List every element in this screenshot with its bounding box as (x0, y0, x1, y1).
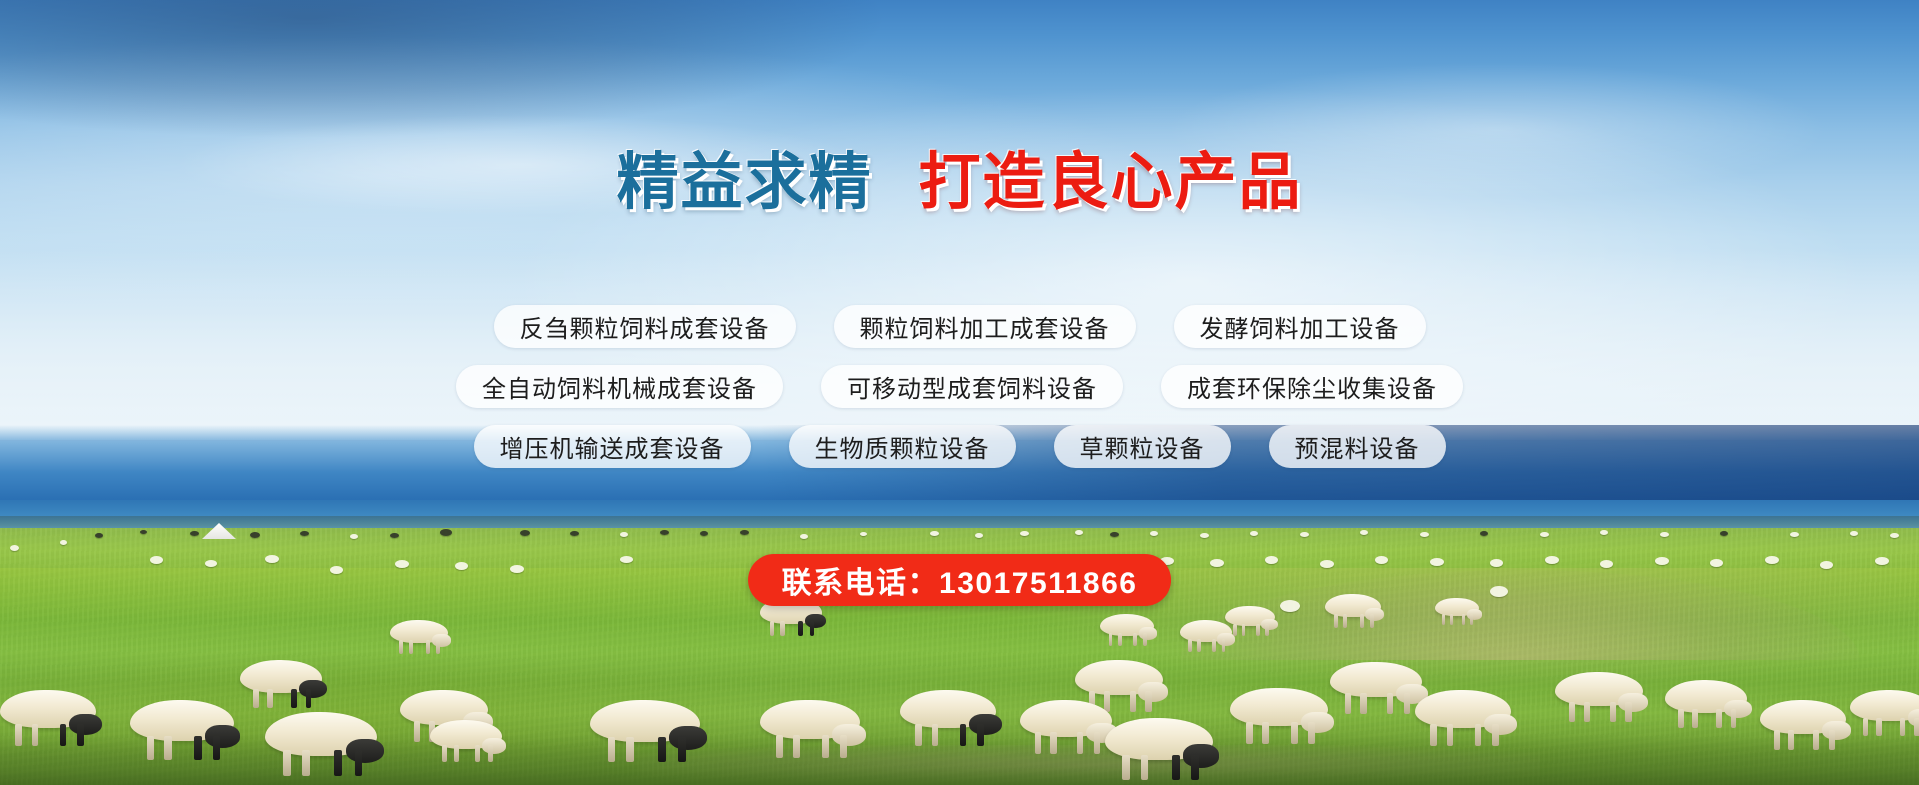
sheep (265, 712, 377, 776)
sheep-leg (1470, 614, 1473, 625)
distant-sheep (10, 545, 19, 551)
sheep (1325, 594, 1381, 628)
sheep-leg (840, 735, 847, 758)
sheep-leg (1246, 722, 1253, 744)
sheep-leg (302, 750, 310, 776)
sheep-leg (1291, 722, 1298, 744)
sheep-leg (658, 737, 666, 762)
distant-sheep (975, 533, 983, 538)
sheep-leg (1077, 732, 1083, 754)
sheep-leg (1610, 702, 1616, 722)
distant-sheep (1480, 531, 1488, 536)
sheep-leg (1447, 724, 1454, 746)
distant-sheep (1250, 531, 1258, 536)
sheep-leg (1222, 639, 1226, 652)
sheep-leg (355, 750, 363, 776)
distant-sheep (700, 531, 708, 536)
distant-sheep (570, 531, 579, 536)
sheep-leg (1212, 639, 1216, 652)
sheep-leg (1094, 732, 1100, 754)
sheep-leg (1492, 724, 1499, 746)
sheep-leg (1308, 722, 1315, 744)
sheep-leg (32, 724, 39, 746)
sheep-leg (291, 689, 297, 708)
product-pill-grass-pellet-equipment[interactable]: 草颗粒设备 (1054, 425, 1231, 468)
sheep-leg (1141, 755, 1149, 780)
sheep-leg (1360, 693, 1366, 714)
sheep-leg (436, 640, 440, 654)
distant-sheep (860, 532, 867, 536)
sheep-head (1138, 682, 1168, 702)
sheep-leg (283, 750, 291, 776)
distant-sheep (455, 562, 468, 570)
sheep-leg (1133, 633, 1137, 646)
sheep-leg (1334, 614, 1338, 628)
distant-sheep (520, 530, 530, 536)
sheep (1850, 690, 1919, 736)
distant-sheep (1540, 532, 1549, 537)
sheep-leg (608, 737, 616, 762)
distant-sheep (150, 556, 163, 564)
distant-sheep (1660, 532, 1669, 537)
product-pill-premix-equipment[interactable]: 预混料设备 (1269, 425, 1446, 468)
sheep (130, 700, 234, 760)
distant-sheep (440, 529, 452, 536)
sheep-head (69, 714, 102, 735)
product-pill-booster-conveying-equipment[interactable]: 增压机输送成套设备 (474, 425, 751, 468)
sheep-leg (1262, 722, 1269, 744)
distant-sheep (1790, 532, 1799, 537)
sheep-leg (399, 640, 403, 654)
distant-sheep (190, 531, 199, 536)
product-pill-biomass-pellet-equipment[interactable]: 生物质颗粒设备 (789, 425, 1016, 468)
sheep-leg (253, 689, 259, 708)
distant-sheep (800, 534, 808, 539)
sheep-leg (1584, 702, 1590, 722)
sheep-head (1301, 712, 1334, 733)
promotional-banner: 精益求精打造良心产品 反刍颗粒饲料成套设备 颗粒饲料加工成套设备 发酵饲料加工设… (0, 0, 1919, 785)
distant-sheep (1545, 556, 1559, 564)
sheep-leg (798, 621, 802, 636)
sheep-head (805, 614, 826, 628)
distant-sheep (1020, 531, 1029, 536)
product-row-2: 全自动饲料机械成套设备 可移动型成套饲料设备 成套环保除尘收集设备 (0, 365, 1919, 408)
sheep-head (1724, 700, 1752, 718)
sheep-leg (1242, 624, 1246, 636)
sheep (1665, 680, 1747, 728)
product-pill-ruminant-pellet-feed[interactable]: 反刍颗粒饲料成套设备 (494, 305, 796, 348)
sheep-leg (1122, 755, 1130, 780)
sheep-leg (1050, 732, 1056, 754)
distant-sheep (140, 530, 147, 534)
distant-sheep (1200, 533, 1209, 538)
sheep-leg (164, 736, 171, 760)
distant-sheep (330, 566, 343, 574)
distant-sheep (1600, 530, 1608, 535)
sheep-head (1467, 609, 1482, 619)
sheep-leg (1442, 614, 1445, 625)
sheep-leg (475, 745, 480, 762)
sheep-leg (932, 724, 939, 746)
distant-sheep (1655, 557, 1669, 565)
sheep-leg (776, 735, 783, 758)
distant-sheep (1600, 560, 1613, 568)
sheep-leg (334, 750, 342, 776)
sheep (1555, 672, 1643, 722)
sheep-leg (1430, 724, 1437, 746)
distant-sheep (1075, 530, 1083, 535)
product-row-3: 增压机输送成套设备 生物质颗粒设备 草颗粒设备 预混料设备 (0, 425, 1919, 468)
distant-sheep (1375, 556, 1388, 564)
sheep-head (669, 726, 706, 750)
sheep (430, 720, 502, 762)
sheep (390, 620, 448, 654)
distant-sheep (390, 533, 399, 538)
sheep-leg (1813, 730, 1819, 750)
distant-sheep (1765, 556, 1779, 564)
distant-sheep (1430, 558, 1444, 566)
sheep-leg (1265, 624, 1269, 636)
sheep-leg (1678, 709, 1684, 728)
sheep (1415, 690, 1511, 746)
sheep (240, 660, 322, 708)
sheep (1100, 614, 1154, 646)
sheep-leg (442, 745, 447, 762)
sheep-head (482, 738, 506, 754)
sheep (1330, 662, 1422, 714)
sheep-leg (1625, 702, 1631, 722)
sheep-leg (1109, 633, 1113, 646)
sheep-leg (822, 735, 829, 758)
sheep-head (299, 680, 327, 698)
product-pill-automatic-feed-machinery[interactable]: 全自动饲料机械成套设备 (456, 365, 783, 408)
sheep (1225, 606, 1275, 636)
distant-sheep (1300, 532, 1309, 537)
distant-sheep (620, 532, 628, 537)
sheep (900, 690, 996, 746)
sheep-leg (770, 621, 774, 636)
sheep (760, 700, 860, 758)
sheep-leg (1914, 718, 1919, 736)
sheep-leg (1191, 755, 1199, 780)
sheep-leg (678, 737, 686, 762)
sheep-head (1139, 627, 1157, 639)
sheep-leg (1343, 614, 1347, 628)
sheep-leg (1035, 732, 1041, 754)
sheep (590, 700, 700, 762)
sheep-leg (1145, 691, 1151, 712)
sheep-leg (194, 736, 201, 760)
page-title: 精益求精打造良心产品 (0, 143, 1919, 219)
sheep-leg (1569, 702, 1575, 722)
sheep-leg (1130, 691, 1136, 712)
sheep (1760, 700, 1846, 750)
sheep-leg (409, 640, 413, 654)
sheep-leg (1475, 724, 1482, 746)
distant-sheep (1150, 531, 1158, 536)
sheep-leg (1143, 633, 1147, 646)
sheep (0, 690, 96, 746)
distant-sheep (1360, 530, 1368, 535)
distant-sheep (350, 534, 358, 539)
sheep-leg (1172, 755, 1180, 780)
sheep-leg (147, 736, 154, 760)
headline-blue-text: 精益求精 (616, 147, 872, 219)
distant-sheep (740, 530, 749, 535)
distant-sheep (1210, 559, 1224, 567)
sheep-head (1484, 714, 1517, 735)
distant-sheep (1875, 557, 1889, 565)
sheep-leg (454, 745, 459, 762)
sheep-leg (960, 724, 967, 746)
sheep (1105, 718, 1213, 780)
sheep-leg (488, 745, 493, 762)
sheep-head (346, 739, 384, 763)
distant-sheep (300, 531, 309, 536)
distant-sheep (930, 531, 939, 536)
sheep (1435, 598, 1479, 625)
sheep-leg (1692, 709, 1698, 728)
sheep-leg (1450, 614, 1453, 625)
sheep-head (832, 724, 866, 746)
distant-sheep (395, 560, 409, 568)
sheep-head (1618, 693, 1648, 712)
sheep-leg (1876, 718, 1882, 736)
sheep-leg (267, 689, 273, 708)
distant-sheep (1110, 532, 1119, 537)
sheep (1230, 688, 1328, 744)
sheep-head (1822, 721, 1851, 740)
sheep-leg (1774, 730, 1780, 750)
distant-sheep (660, 530, 669, 535)
distant-sheep (1280, 600, 1300, 612)
sheep-leg (1188, 639, 1192, 652)
sheep-leg (1731, 709, 1737, 728)
sheep-leg (1863, 718, 1869, 736)
distant-sheep (1420, 532, 1429, 537)
distant-sheep (60, 540, 67, 545)
distant-sheep (250, 532, 260, 538)
product-pill-fermented-feed-processing[interactable]: 发酵饲料加工设备 (1174, 305, 1426, 348)
sheep-leg (1233, 624, 1237, 636)
headline-red-text: 打造良心产品 (919, 147, 1303, 219)
sheep-head (205, 725, 240, 748)
sheep-leg (1788, 730, 1794, 750)
sheep-leg (793, 735, 800, 758)
distant-sheep (265, 555, 279, 563)
distant-sheep (1890, 533, 1899, 538)
sheep-leg (1387, 693, 1393, 714)
sheep-leg (1197, 639, 1201, 652)
distant-sheep (1850, 531, 1858, 536)
distant-sheep (1265, 556, 1278, 564)
sheep-leg (1829, 730, 1835, 750)
distant-sheep (1720, 531, 1728, 536)
sheep-leg (1462, 614, 1465, 625)
sheep-leg (306, 689, 312, 708)
sheep-leg (15, 724, 22, 746)
distant-sheep (1490, 559, 1503, 567)
sheep-leg (977, 724, 984, 746)
sheep-head (1261, 619, 1278, 630)
sheep-leg (1360, 614, 1364, 628)
product-category-list: 反刍颗粒饲料成套设备 颗粒饲料加工成套设备 发酵饲料加工设备 全自动饲料机械成套… (0, 305, 1919, 485)
sheep-head (969, 714, 1002, 735)
distant-sheep (1490, 586, 1508, 597)
distant-sheep (1710, 559, 1723, 567)
sheep-leg (77, 724, 84, 746)
product-row-1: 反刍颗粒饲料成套设备 颗粒饲料加工成套设备 发酵饲料加工设备 (0, 305, 1919, 348)
product-pill-mobile-feed-equipment[interactable]: 可移动型成套饲料设备 (821, 365, 1123, 408)
contact-phone-badge[interactable]: 联系电话：13017511866 (748, 554, 1172, 606)
distant-sheep (1820, 561, 1833, 569)
product-pill-pellet-feed-processing[interactable]: 颗粒饲料加工成套设备 (834, 305, 1136, 348)
distant-sheep (620, 556, 633, 563)
sheep-leg (915, 724, 922, 746)
product-pill-dust-collection-equipment[interactable]: 成套环保除尘收集设备 (1161, 365, 1463, 408)
sheep-head (1183, 744, 1220, 768)
sheep-leg (213, 736, 220, 760)
distant-sheep (1320, 560, 1334, 568)
sheep-leg (1118, 633, 1122, 646)
distant-sheep (205, 560, 217, 567)
sheep-leg (1345, 693, 1351, 714)
distant-sheep (510, 565, 524, 573)
sheep-leg (1404, 693, 1410, 714)
sheep-leg (780, 621, 784, 636)
distant-sheep (95, 533, 103, 538)
sheep (1020, 700, 1112, 754)
sheep-leg (414, 721, 420, 742)
sheep-leg (60, 724, 67, 746)
sheep-leg (1370, 614, 1374, 628)
sheep-leg (1256, 624, 1260, 636)
sheep-leg (1716, 709, 1722, 728)
sheep-leg (626, 737, 634, 762)
sheep-leg (810, 621, 814, 636)
sheep-leg (426, 640, 430, 654)
sheep-leg (1900, 718, 1906, 736)
